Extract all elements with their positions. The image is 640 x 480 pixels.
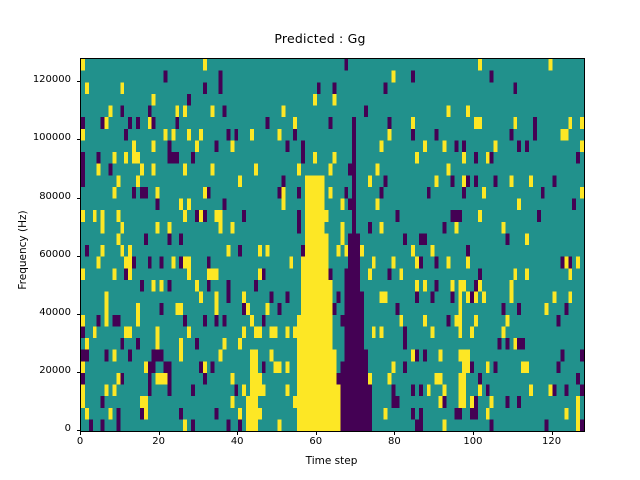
y-tick-mark bbox=[77, 198, 81, 199]
heatmap-canvas bbox=[81, 59, 584, 431]
y-axis-label: Frequency (Hz) bbox=[17, 190, 29, 310]
plot-axes bbox=[80, 58, 585, 432]
x-tick-mark bbox=[552, 431, 553, 435]
heatmap-image bbox=[81, 59, 584, 431]
x-tick-label: 80 bbox=[388, 436, 401, 447]
x-tick-mark bbox=[316, 431, 317, 435]
x-tick-mark bbox=[473, 431, 474, 435]
y-tick-mark bbox=[77, 256, 81, 257]
x-tick-label: 60 bbox=[309, 436, 322, 447]
y-tick-mark bbox=[77, 139, 81, 140]
x-tick-mark bbox=[394, 431, 395, 435]
y-tick-mark bbox=[77, 430, 81, 431]
x-tick-mark bbox=[80, 431, 81, 435]
chart-title: Predicted : Gg bbox=[0, 31, 640, 46]
x-tick-label: 0 bbox=[77, 436, 83, 447]
x-tick-label: 40 bbox=[231, 436, 244, 447]
x-tick-label: 20 bbox=[152, 436, 165, 447]
y-tick-mark bbox=[77, 314, 81, 315]
y-tick-mark bbox=[77, 81, 81, 82]
x-axis-label: Time step bbox=[80, 455, 583, 467]
x-tick-label: 100 bbox=[463, 436, 482, 447]
x-tick-mark bbox=[159, 431, 160, 435]
y-tick-mark bbox=[77, 372, 81, 373]
matplotlib-figure: Predicted : Gg Time step Frequency (Hz) … bbox=[0, 0, 640, 480]
x-tick-mark bbox=[237, 431, 238, 435]
x-tick-label: 120 bbox=[542, 436, 561, 447]
